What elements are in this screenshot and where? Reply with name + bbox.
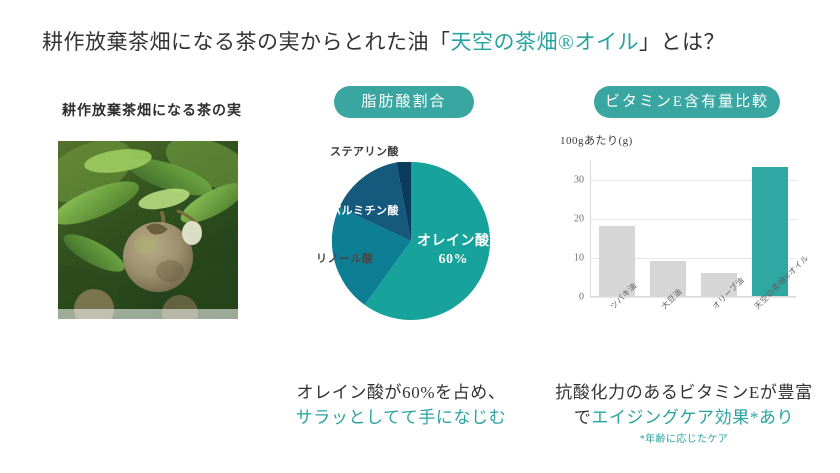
vitamin-e-bar-chart: 100gあたり(g) 0 10 20 30 [558,132,808,352]
caption-right: 抗酸化力のあるビタミンEが豊富 でエイジングケア効果*あり *年齢に応じたケア [534,381,834,448]
bar-chart-plot-area: 0 10 20 30 [590,160,796,297]
caption-right-line1: 抗酸化力のあるビタミンEが豊富 [534,381,834,406]
caption-left-line2: サラッとしてて手になじむ [256,406,546,431]
tea-seed-photo [58,141,238,319]
photo-caption: 耕作放棄茶畑になる茶の実 [62,100,242,120]
caption-left: オレイン酸が60%を占め、 サラッとしてて手になじむ [256,381,546,430]
pie-label-oleic-name: オレイン酸 [417,234,490,249]
bar-chart-unit-label: 100gあたり(g) [560,132,633,148]
pie-label-oleic-value: 60% [439,252,469,267]
bar-column-soybean [650,160,686,296]
page-title-accent: 天空の茶畑®オイル [451,30,639,54]
page-title-prefix: 耕作放棄茶畑になる茶の実からとれた油「 [42,30,451,54]
y-tick-20: 20 [574,213,584,224]
bar-series [591,160,796,296]
pie-label-palmitic-acid: パルミチン酸 [330,202,399,218]
tea-seed-illustration [58,141,238,319]
bar-chart-x-labels: ツバキ油 大豆油 オリーブ油 天空の茶畑®オイル [590,300,796,352]
caption-right-line2: でエイジングケア効果*あり [534,406,834,431]
caption-left-line1: オレイン酸が60%を占め、 [256,381,546,406]
fatty-acid-pie-chart: ステアリン酸 オレイン酸 60% パルミチン酸 リノール酸 [311,135,511,320]
caption-right-footnote: *年齢に応じたケア [534,433,834,448]
page-title-suffix: 」とは？ [639,30,725,54]
pie-label-stearic-acid: ステアリン酸 [330,143,399,159]
bar-column-tsubaki [599,160,635,296]
y-tick-30: 30 [574,174,584,185]
bar-column-olive [701,160,737,296]
caption-right-line2-plain: で [574,408,592,427]
page-title: 耕作放棄茶畑になる茶の実からとれた油「天空の茶畑®オイル」とは？ [42,26,725,56]
caption-right-line2-accent: エイジングケア効果*あり [591,408,794,427]
pie-label-oleic-acid: オレイン酸 60% [417,233,490,268]
y-tick-0: 0 [579,292,584,303]
y-tick-10: 10 [574,252,584,263]
pie-label-linoleic-acid: リノール酸 [316,250,374,266]
section-pill-vitamin-e: ビタミンE含有量比較 [594,86,780,118]
section-pill-fatty-acid: 脂肪酸割合 [334,86,474,118]
